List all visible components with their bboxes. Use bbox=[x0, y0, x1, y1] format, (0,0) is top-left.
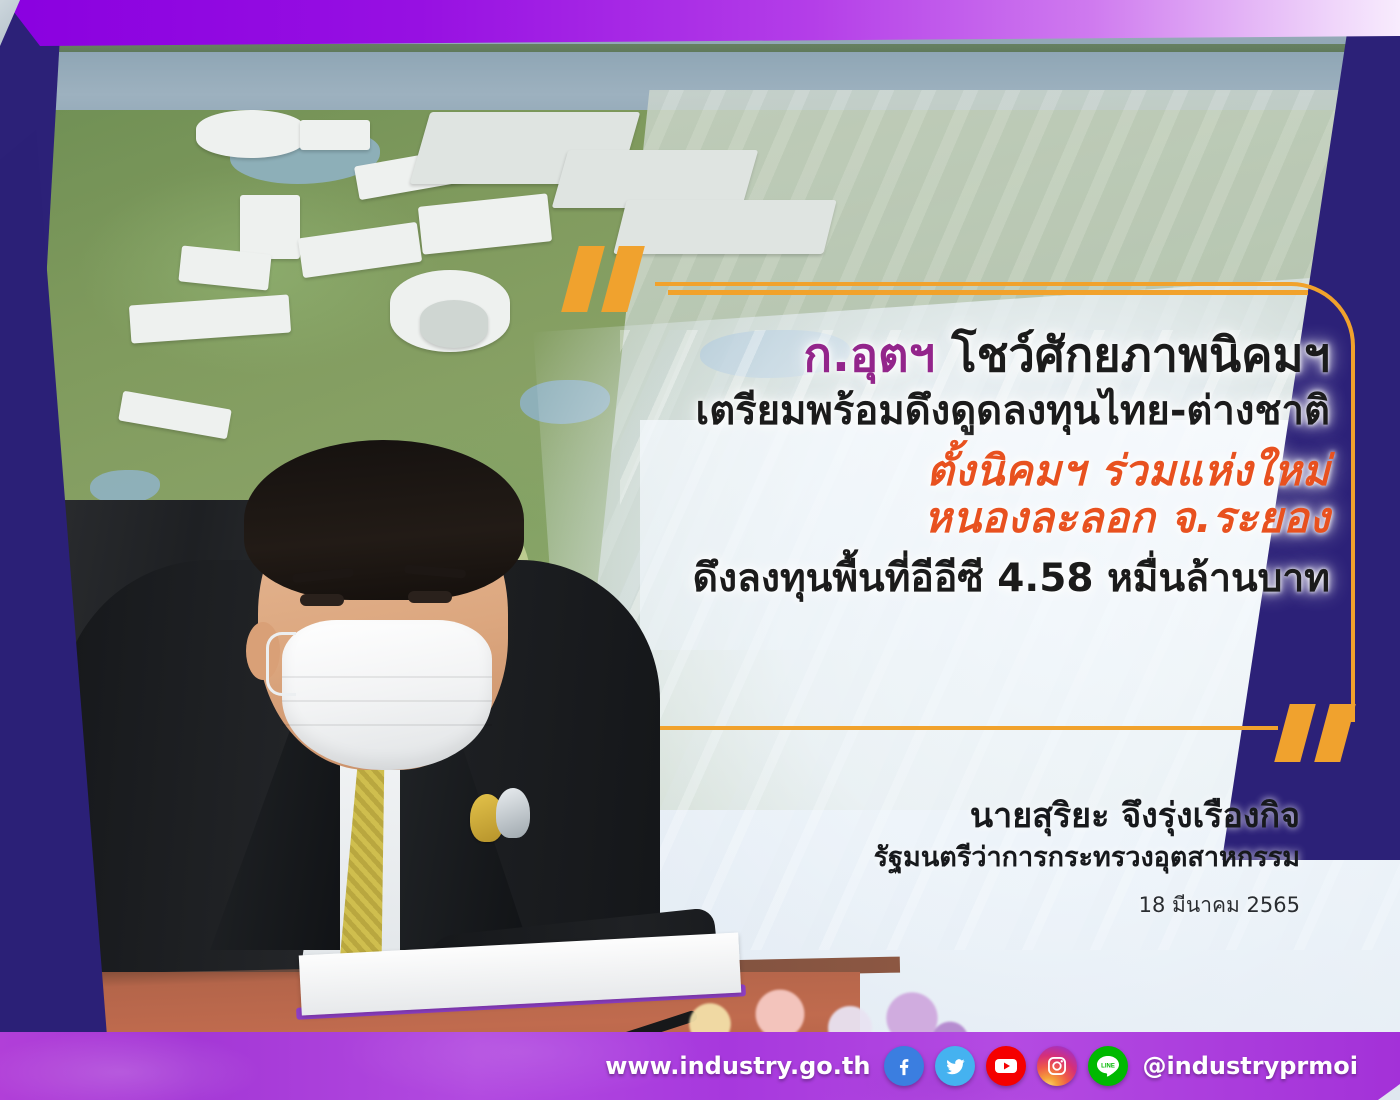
social-icon-row: LINE bbox=[884, 1046, 1128, 1086]
attribution-block: นายสุริยะ จึงรุ่งเรืองกิจ รัฐมนตรีว่าการ… bbox=[700, 795, 1300, 922]
face-mask bbox=[282, 620, 492, 770]
lapel-pin-silver bbox=[496, 788, 530, 838]
face-mask-strap bbox=[266, 632, 296, 696]
orange-rule-bottom bbox=[660, 726, 1278, 730]
svg-text:LINE: LINE bbox=[1102, 1063, 1116, 1069]
speaker-role: รัฐมนตรีว่าการกระทรวงอุตสาหกรรม bbox=[700, 840, 1300, 875]
youtube-icon[interactable] bbox=[986, 1046, 1026, 1086]
headline-line-4: หนองละลอก จ.ระยอง bbox=[640, 494, 1330, 541]
headline-line-1: ก.อุตฯ โชว์ศักยภาพนิคมฯ bbox=[640, 330, 1330, 383]
instagram-icon[interactable] bbox=[1037, 1046, 1077, 1086]
eye bbox=[300, 594, 344, 606]
photo-building bbox=[196, 110, 306, 158]
headline-line-3: ตั้งนิคมฯ ร่วมแห่งใหม่ bbox=[640, 447, 1330, 494]
headline-block: ก.อุตฯ โชว์ศักยภาพนิคมฯ เตรียมพร้อมดึงดู… bbox=[640, 330, 1330, 601]
photo-building bbox=[240, 195, 300, 259]
line-icon[interactable]: LINE bbox=[1088, 1046, 1128, 1086]
photo-stadium-inner bbox=[420, 300, 488, 348]
headline-highlight: ก.อุตฯ bbox=[804, 328, 935, 383]
hair bbox=[244, 440, 524, 600]
footer-bar: www.industry.go.th LINE bbox=[0, 1032, 1400, 1100]
orange-rule-top bbox=[668, 290, 1308, 295]
facebook-icon[interactable] bbox=[884, 1046, 924, 1086]
twitter-icon[interactable] bbox=[935, 1046, 975, 1086]
speaker-name: นายสุริยะ จึงรุ่งเรืองกิจ bbox=[700, 795, 1300, 838]
quote-close-icon bbox=[1282, 704, 1360, 762]
headline-line-5: ดึงลงทุนพื้นที่อีอีซี 4.58 หมื่นล้านบาท bbox=[640, 557, 1330, 601]
website-url[interactable]: www.industry.go.th bbox=[605, 1052, 870, 1080]
publish-date: 18 มีนาคม 2565 bbox=[700, 889, 1300, 922]
poster-canvas: ก.อุตฯ โชว์ศักยภาพนิคมฯ เตรียมพร้อมดึงดู… bbox=[0, 0, 1400, 1100]
eye bbox=[408, 591, 452, 603]
headline-line-1-rest: โชว์ศักยภาพนิคมฯ bbox=[935, 328, 1330, 383]
social-handle[interactable]: @industryprmoi bbox=[1142, 1052, 1358, 1080]
photo-building bbox=[300, 120, 370, 150]
quote-open-icon bbox=[570, 246, 656, 312]
headline-line-2: เตรียมพร้อมดึงดูดลงทุนไทย-ต่างชาติ bbox=[640, 389, 1330, 434]
